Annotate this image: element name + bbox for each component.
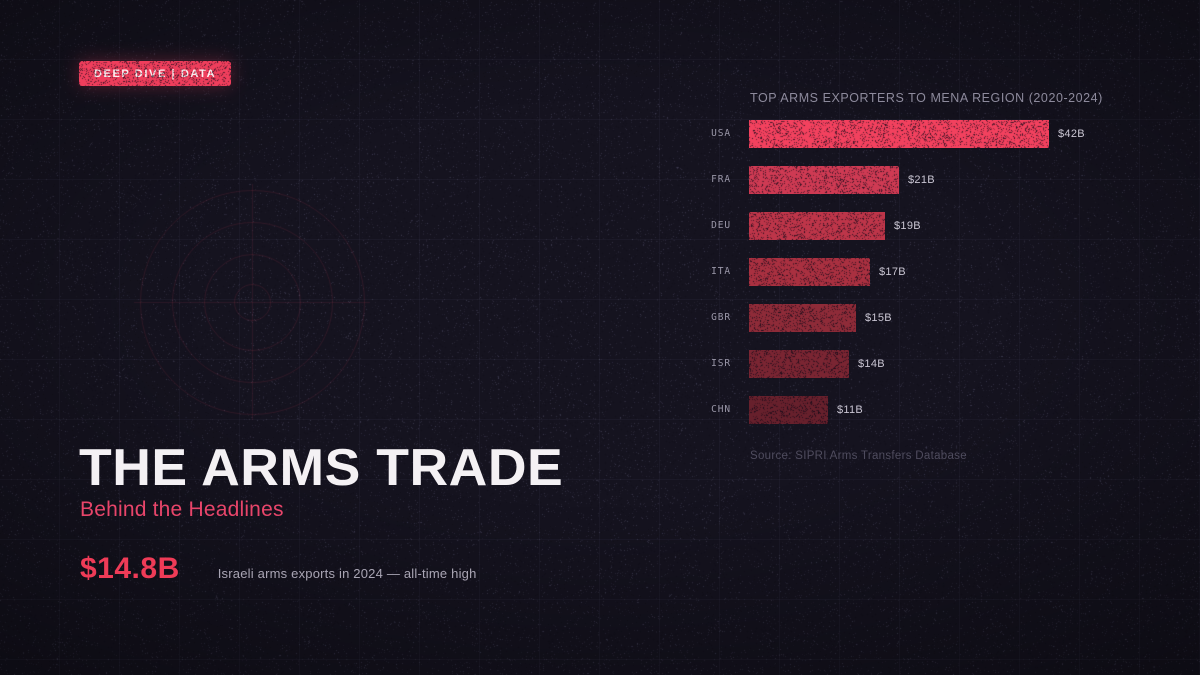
chart-bar-value-label: $19B: [894, 212, 921, 240]
chart-bar-category-label: USA: [661, 120, 731, 148]
grain-overlay: [749, 166, 899, 194]
chart-bar-category-label: ISR: [661, 350, 731, 378]
chart-bar-category-label: ITA: [661, 258, 731, 286]
chart-bar-value-label: $11B: [837, 396, 863, 424]
chart-bar-value-label: $14B: [858, 350, 885, 378]
chart-bar-value-label: $42B: [1058, 120, 1085, 148]
chart-bar-fill: [749, 166, 899, 194]
grain-overlay: [749, 212, 885, 240]
chart-bar-fill: [749, 350, 849, 378]
grain-overlay: [749, 258, 870, 286]
chart-bar-fill: [749, 120, 1049, 148]
chart-bar-category-label: DEU: [661, 212, 731, 240]
chart-bar-fill: [749, 258, 870, 286]
grain-overlay: [749, 350, 849, 378]
poster-stage: DEEP DIVE | DATA THE ARMS TRADE Behind t…: [0, 0, 1200, 675]
chart-bar-value-label: $21B: [908, 166, 935, 194]
chart-bar-fill: [749, 212, 885, 240]
chart-bar-category-label: FRA: [661, 166, 731, 194]
grain-overlay: [749, 304, 856, 332]
arms-exporters-bar-chart: TOP ARMS EXPORTERS TO MENA REGION (2020-…: [0, 0, 1200, 675]
chart-bar-category-label: CHN: [661, 396, 731, 424]
chart-bar-category-label: GBR: [661, 304, 731, 332]
grain-overlay: [749, 120, 1049, 148]
grain-overlay: [749, 396, 828, 424]
chart-title: TOP ARMS EXPORTERS TO MENA REGION (2020-…: [750, 91, 1103, 105]
chart-bar-fill: [749, 304, 856, 332]
chart-bar-value-label: $17B: [879, 258, 906, 286]
chart-bar-fill: [749, 396, 828, 424]
chart-source-note: Source: SIPRI Arms Transfers Database: [750, 450, 967, 462]
chart-bar-value-label: $15B: [865, 304, 892, 332]
